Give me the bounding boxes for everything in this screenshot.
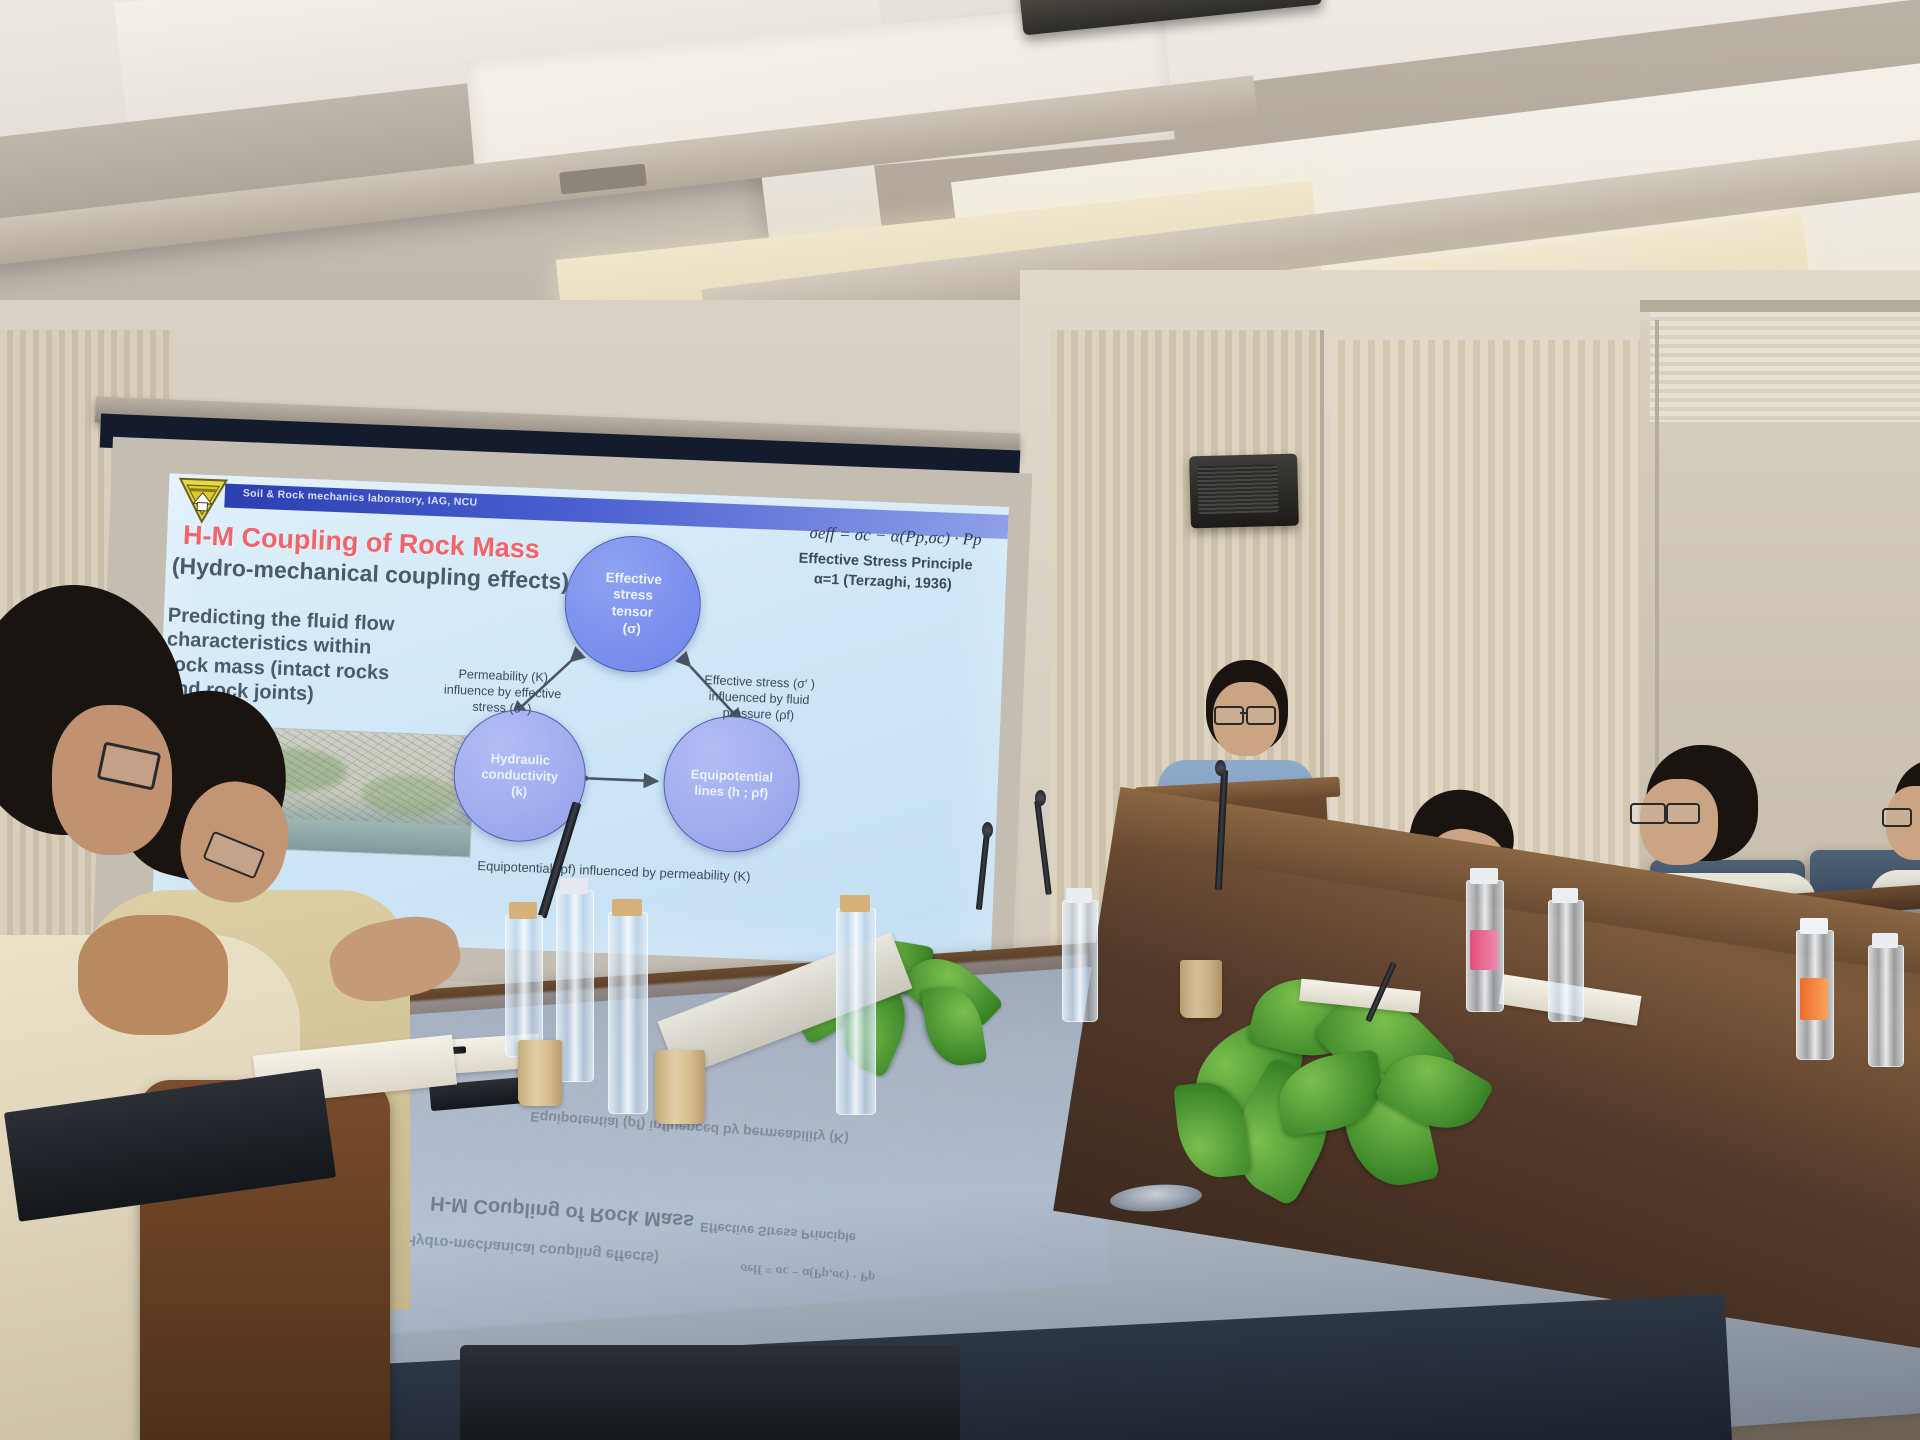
paper-cup-2 [655, 1050, 705, 1124]
slide-equation-note-1: Effective Stress Principle [798, 551, 973, 574]
water-bottle-cap-main-2 [560, 878, 588, 894]
window-blind-slats [1650, 312, 1920, 422]
open-laptop-foreground [460, 1345, 960, 1440]
water-bottle-right-4 [1868, 945, 1904, 1067]
edge-label-left: Permeability (K) influence by effective … [414, 665, 591, 720]
presenter-glasses-left-lens [1214, 706, 1244, 725]
node-equipotential-lines: Equipotential lines (h ; ρf) [661, 713, 802, 854]
attendee-right-far-glasses-right [1666, 803, 1700, 824]
water-bottle-main-3 [608, 912, 648, 1114]
paper-cup-3 [1180, 960, 1222, 1018]
water-bottle-main-4 [836, 908, 876, 1115]
node-effective-stress-tensor: Effective stress tensor (σ) [562, 533, 703, 674]
conference-room-photo: Soil & Rock mechanics laboratory, IAG, N… [0, 0, 1920, 1440]
attendee-front-left-neck [78, 915, 228, 1035]
table-microphone-head-right [982, 822, 993, 838]
window-blind-rail [1640, 300, 1920, 312]
paper-cup-1 [518, 1040, 562, 1106]
attendee-right-edge-glasses [1882, 808, 1912, 827]
node-line-4: (σ) [603, 620, 660, 639]
table-microphone-head-left [1035, 790, 1046, 806]
water-bottle-cap-right-1 [1470, 868, 1498, 884]
edge-label-right: Effective stress (σ′ ) influenced by flu… [668, 672, 850, 727]
podium-microphone-head [1215, 760, 1226, 776]
node-line-3: (k) [481, 782, 558, 801]
node-line-2: lines (h ; ρf) [690, 782, 773, 801]
water-bottle-cap-main-3 [612, 899, 642, 916]
water-bottle-label-right-1 [1470, 930, 1498, 970]
water-bottle-cap-main-5 [1066, 888, 1092, 903]
water-bottle-main-5 [1062, 900, 1098, 1022]
water-bottle-cap-main-4 [840, 895, 870, 912]
water-bottle-right-2 [1548, 900, 1584, 1022]
ncu-lab-shield-logo [176, 476, 230, 526]
water-bottle-cap-right-2 [1552, 888, 1578, 903]
wall-speaker [1189, 454, 1299, 529]
water-bottle-cap-right-4 [1872, 933, 1898, 948]
edge-label-bottom: Equipotential (ρf) influenced by permeab… [384, 854, 844, 889]
water-bottle-cap-main-1 [509, 902, 537, 919]
node-line-2: conductivity [481, 766, 558, 785]
presenter-glasses-right-lens [1246, 706, 1276, 725]
slide-equation-note-2: α=1 (Terzaghi, 1936) [814, 571, 953, 593]
presenter-glasses-bridge [1240, 712, 1248, 714]
water-bottle-cap-right-3 [1800, 918, 1828, 934]
water-bottle-label-right-3 [1800, 978, 1828, 1020]
attendee-right-far-glasses-left [1630, 803, 1666, 824]
node-line-3: tensor [604, 603, 661, 622]
water-bottle-main-1 [505, 915, 543, 1057]
